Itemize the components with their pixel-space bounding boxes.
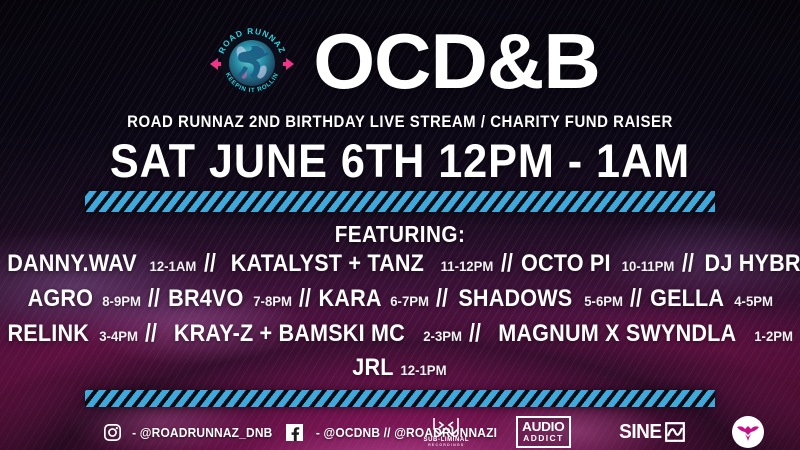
lineup-artist-name: JRL [352, 356, 393, 380]
lineup-artist-name: OCTO PI [521, 252, 611, 276]
lineup-artist-time: 12-1AM [150, 259, 197, 273]
lineup-artist-name: AGRO [28, 287, 94, 311]
road-runnaz-badge-icon: ROAD RUNNAZ KEEPIN IT ROLLIN [204, 14, 300, 110]
social-link-instagram[interactable]: - @ROADRUNNAZ_DNB [104, 424, 279, 441]
sub-liminal-owl-icon [431, 416, 461, 436]
lineup-artist-name: BR4VO [168, 287, 243, 311]
striped-divider-bottom [85, 390, 715, 407]
lineup-artist-time: 7-8PM [253, 294, 292, 308]
lineup-separator: // [630, 286, 642, 311]
lineup-artist-name: KATALYST + TANZ [230, 252, 423, 276]
lineup-row: AGRO8-9PM//BR4VO7-8PM//KARA6-7PM//SHADOW… [0, 286, 800, 311]
sponsor-sub-liminal[interactable]: SUB-LIMINAL RECORDINGS [424, 416, 470, 448]
lineup-artist-name: MAGNUM X SWYNDLA [498, 322, 736, 346]
sponsor-audio-addict-bottom: ADDICT [523, 434, 564, 443]
lineup-artist-name: GELLA [650, 287, 724, 311]
lineup-artist-time: 4-5PM [734, 294, 773, 308]
lineup-artist-name: DJ HYBRID [705, 252, 800, 276]
lineup-artist-name: RELINK [8, 322, 89, 346]
lineup-separator: // [148, 286, 160, 311]
social-handle-text: - @ROADRUNNAZ_DNB [132, 425, 272, 440]
lineup-separator: // [145, 321, 157, 346]
lineup-list: DANNY.WAV12-1AM//KATALYST + TANZ11-12PM/… [0, 251, 800, 390]
lineup-separator: // [204, 251, 216, 276]
event-date-time: SAT JUNE 6TH 12PM - 1AM [32, 133, 768, 188]
lineup-separator: // [501, 251, 513, 276]
lineup-artist-name: SHADOWS [459, 287, 573, 311]
instagram-icon [104, 424, 121, 441]
lineup-separator: // [299, 286, 311, 311]
lineup-artist-time: 10-11PM [622, 259, 675, 273]
lineup-row: RELINK3-4PM//KRAY-Z + BAMSKI MC2-3PM//MA… [0, 321, 800, 346]
sponsor-sine[interactable]: SINE [618, 421, 686, 444]
lineup-artist-time: 11-12PM [440, 259, 493, 273]
lineup-artist-time: 8-9PM [102, 294, 141, 308]
event-subtitle: ROAD RUNNAZ 2ND BIRTHDAY LIVE STREAM / C… [48, 112, 752, 132]
header: ROAD RUNNAZ KEEPIN IT ROLLIN OCD&B [0, 14, 800, 110]
lineup-artist-name: DANNY.WAV [7, 252, 137, 276]
striped-divider-top [85, 191, 715, 212]
lineup-separator: // [469, 321, 481, 346]
lineup-artist-time: 12-1PM [401, 363, 447, 377]
sponsor-sine-name: SINE [619, 421, 661, 444]
sine-wave-square-icon [665, 422, 685, 442]
lineup-artist-time: 5-6PM [584, 294, 623, 308]
lineup-separator: // [436, 286, 448, 311]
lineup-artist-name: KARA [319, 287, 382, 311]
lineup-artist-time: 1-2PM [755, 329, 794, 343]
lineup-separator: // [682, 251, 694, 276]
lineup-artist-time: 3-4PM [99, 329, 138, 343]
facebook-icon [286, 424, 303, 441]
lineup-row: JRL12-1PM [0, 356, 800, 380]
bat-face-circle-icon [736, 422, 760, 442]
lineup-artist-time: 2-3PM [423, 329, 462, 343]
lineup-row: DANNY.WAV12-1AM//KATALYST + TANZ11-12PM/… [0, 251, 800, 276]
sponsor-bat-logo[interactable] [732, 416, 764, 448]
lineup-artist-name: KRAY-Z + BAMSKI MC [174, 322, 405, 346]
sponsor-audio-addict-top: AUDIO [522, 420, 565, 433]
sponsor-sub-liminal-sub: RECORDINGS [428, 444, 464, 448]
event-flyer: ROAD RUNNAZ KEEPIN IT ROLLIN OCD&B ROAD … [0, 0, 800, 450]
featuring-label: FEATURING: [40, 221, 760, 248]
sponsor-audio-addict[interactable]: AUDIO ADDICT [516, 416, 571, 448]
page-title: OCD&B [313, 26, 600, 98]
lineup-artist-time: 6-7PM [390, 294, 429, 308]
sponsor-logos: SUB-LIMINAL RECORDINGS AUDIO ADDICT SINE [400, 412, 788, 450]
